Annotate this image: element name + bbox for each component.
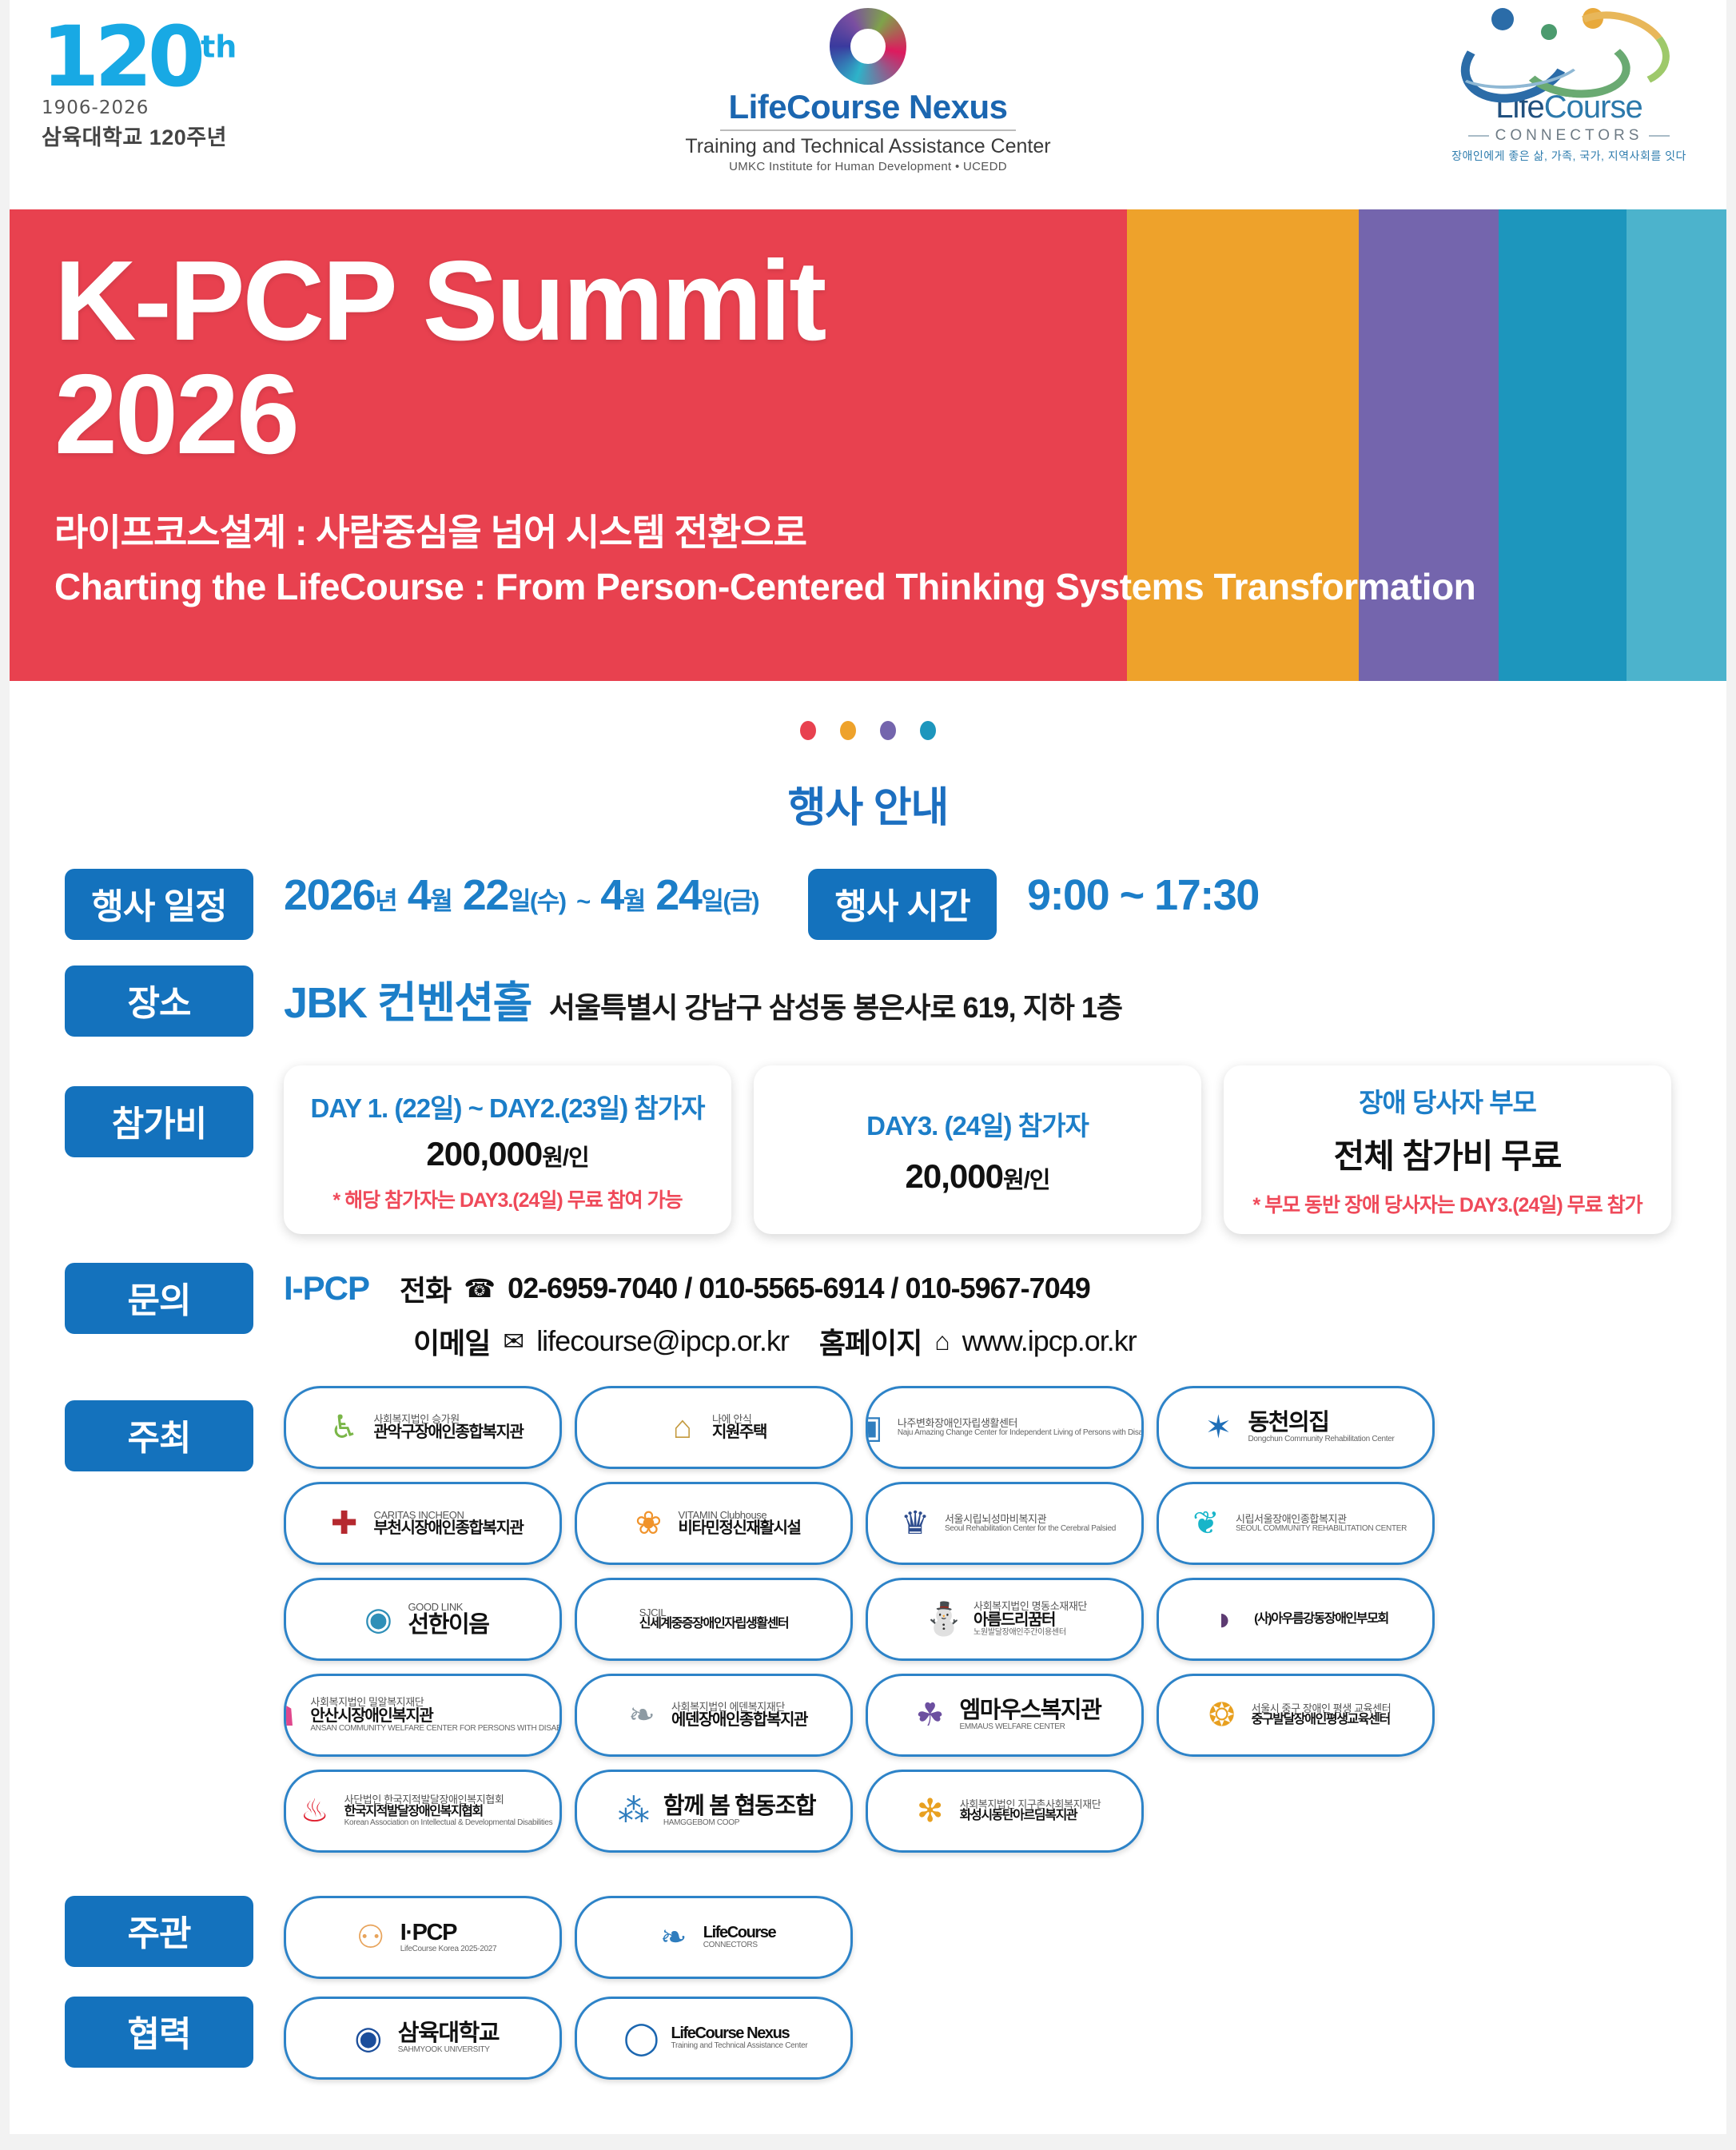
partner-logo-icon: ◉	[356, 1598, 400, 1641]
partner-logo: ◗(사)아우름강동장애인부모회	[1157, 1578, 1435, 1661]
partner-logo: ☘엠마우스복지관EMMAUS WELFARE CENTER	[866, 1674, 1144, 1757]
partner-logo-subtext: LifeCourse Korea 2025-2027	[400, 1945, 497, 1954]
partner-logo-name: LifeCourse	[703, 1925, 775, 1941]
partner-logo-name: 아름드리꿈터	[974, 1612, 1087, 1629]
info-body: 행사 안내 행사 일정 2026년 4월 22일(수) ~ 4월	[10, 681, 1726, 2134]
time-value-wrap: 9:00 ~ 17:30	[997, 869, 1259, 920]
partner-logo-name: 신세계중증장애인자립생활센터	[639, 1618, 788, 1631]
partner-logo-name: 선한이음	[408, 1613, 488, 1638]
partner-logo-icon: ❂	[1200, 1694, 1244, 1737]
partner-logo-supertext: 시립서울장애인종합복지관	[1236, 1514, 1407, 1525]
organizer-logo-grid: ⚇I·PCPLifeCourse Korea 2025-2027❧LifeCou…	[253, 1896, 853, 1979]
footer-bar	[0, 2134, 1736, 2150]
partner-logo-icon: ♨	[293, 1790, 336, 1833]
partner-logo-supertext: 나주변화장애인자립생활센터	[898, 1418, 1144, 1429]
venue-value-wrap: JBK 컨벤션홀 서울특별시 강남구 삼성동 봉은사로 619, 지하 1층	[253, 966, 1671, 1030]
partner-logo-icon: ☗	[284, 1694, 302, 1737]
partner-logo-name: 관악구장애인종합복지관	[374, 1424, 524, 1441]
partner-logo-name: 삼육대학교	[398, 2021, 499, 2046]
fee-card-amount: 200,000원/인	[298, 1135, 717, 1173]
page-edge-right	[1726, 0, 1736, 2150]
banner-stripe-teal	[1499, 209, 1627, 681]
partner-logo: ❧LifeCourseCONNECTORS	[575, 1896, 853, 1979]
partner-logo: ⌂나에 안식지원주택	[575, 1386, 853, 1469]
partner-logo: ⁂함께 봄 협동조합HAMGGEBOM COOP	[575, 1770, 853, 1853]
partner-logo: ⛄사회복지법인 명동소재재단아름드리꿈터노원발달장애인주간이용센터	[866, 1578, 1144, 1661]
email-label: 이메일	[413, 1320, 490, 1362]
lifecourse-connectors-logo: LifeCourse CONNECTORS 장애인에게 좋은 삶, 가족, 국가…	[1445, 3, 1693, 164]
divider	[720, 129, 1016, 131]
partner-logo: ◯LifeCourse NexusTraining and Technical …	[575, 1997, 853, 2080]
partner-logo: ♿사회복지법인 승가원관악구장애인종합복지관	[284, 1386, 562, 1469]
section-title: 행사 안내	[10, 774, 1726, 834]
partner-logo-supertext: 사회복지법인 밀알복지재단	[310, 1697, 562, 1708]
anniversary-mark: 120th	[42, 19, 273, 96]
partner-logo: ◉GOOD LINK선한이음	[284, 1578, 562, 1661]
fee-cards-wrap: DAY 1. (22일) ~ DAY2.(23일) 참가자 200,000원/인…	[253, 1064, 1671, 1234]
partner-logo-name: I·PCP	[400, 1921, 497, 1945]
venue-line: JBK 컨벤션홀 서울특별시 강남구 삼성동 봉은사로 619, 지하 1층	[284, 967, 1671, 1030]
partner-logo-icon: ✚	[323, 1502, 366, 1545]
phone-icon: ☎	[464, 1276, 495, 1301]
partner-logo-icon: ♿	[323, 1406, 366, 1449]
contact-details: I-PCP 전화 ☎ 02-6959-7040 / 010-5565-6914 …	[253, 1263, 1137, 1362]
partner-logo-icon: ⁂	[612, 1790, 655, 1833]
partner-logo-subtext: CONNECTORS	[703, 1941, 775, 1950]
partner-logo: ◉삼육대학교SAHMYOOK UNIVERSITY	[284, 1997, 562, 2080]
partner-logo: ☗사회복지법인 밀알복지재단안산시장애인복지관ANSAN COMMUNITY W…	[284, 1674, 562, 1757]
venue-name: JBK 컨벤션홀	[284, 967, 532, 1030]
phone-label: 전화	[400, 1268, 451, 1309]
lifecourse-nexus-logo: LifeCourse Nexus Training and Technical …	[660, 8, 1076, 173]
partner-logo-supertext: 서울시립뇌성마비복지관	[945, 1514, 1116, 1525]
dot-teal	[920, 721, 936, 740]
anniversary-number: 120	[42, 8, 201, 106]
partner-logo-supertext: GOOD LINK	[408, 1602, 488, 1613]
envelope-icon: ✉	[503, 1328, 524, 1354]
partner-logo-icon: ◗	[1203, 1598, 1246, 1641]
partner-logo-name: 중구발달장애인평생교육센터	[1252, 1714, 1392, 1727]
poster-subtitle-english: Charting the LifeCourse : From Person-Ce…	[54, 564, 1475, 609]
partner-logo: ✻사회복지법인 지구촌사회복지재단화성시동탄아르딤복지관	[866, 1770, 1144, 1853]
schedule-value: 2026년 4월 22일(수) ~ 4월 24일(금)	[284, 870, 759, 920]
banner-stripe-light-teal	[1627, 209, 1736, 681]
swirl-icon	[830, 8, 906, 85]
row-contact: 문의 I-PCP 전화 ☎ 02-6959-7040 / 010-5565-69…	[65, 1263, 1671, 1362]
fee-card-amount: 전체 참가비 무료	[1238, 1129, 1657, 1178]
fee-card: DAY 1. (22일) ~ DAY2.(23일) 참가자 200,000원/인…	[284, 1065, 731, 1234]
nexus-subtitle: Training and Technical Assistance Center	[660, 135, 1076, 158]
contact-org: I-PCP	[284, 1269, 369, 1308]
partner-logo: ❀VITAMIN Clubhouse비타민정신재활시설	[575, 1482, 853, 1565]
partner-logo-name: 함께 봄 협동조합	[663, 1794, 815, 1819]
label-venue: 장소	[65, 966, 253, 1037]
host-logo-grid: ♿사회복지법인 승가원관악구장애인종합복지관⌂나에 안식지원주택▣나주변화장애인…	[253, 1386, 1671, 1853]
partner-logo: ▣나주변화장애인자립생활센터Naju Amazing Change Center…	[866, 1386, 1144, 1469]
sahmyook-120th-anniversary-logo: 120th 1906-2026 삼육대학교 120주년	[42, 19, 273, 151]
partner-logo-icon: ▣	[866, 1406, 890, 1449]
banner-content: K-PCP Summit 2026 라이프코스설계 : 사람중심을 넘어 시스템…	[54, 245, 1475, 609]
partner-logo-icon: ◯	[620, 2017, 663, 2060]
fee-cards: DAY 1. (22일) ~ DAY2.(23일) 참가자 200,000원/인…	[284, 1065, 1671, 1234]
anniversary-th: th	[201, 29, 237, 64]
partner-logo-name: 엠마우스복지관	[960, 1698, 1101, 1723]
email-address[interactable]: lifecourse@ipcp.or.kr	[536, 1324, 789, 1358]
partner-logo: ❧사회복지법인 에덴복지재단에덴장애인종합복지관	[575, 1674, 853, 1757]
time-value: 9:00 ~ 17:30	[1027, 870, 1259, 920]
partner-logo-subtext: EMMAUS WELFARE CENTER	[960, 1723, 1101, 1732]
phone-numbers: 02-6959-7040 / 010-5565-6914 / 010-5967-…	[508, 1272, 1090, 1305]
partner-logo-subtext: Seoul Rehabilitation Center for the Cere…	[945, 1525, 1116, 1534]
poster-title-line1: K-PCP Summit	[54, 237, 824, 364]
partner-logo-icon: ♛	[894, 1502, 937, 1545]
page-edge-left	[0, 0, 10, 2150]
dot-red	[800, 721, 816, 740]
event-info-table: 행사 일정 2026년 4월 22일(수) ~ 4월 24일(금)	[65, 869, 1671, 2080]
time-group: 행사 시간 9:00 ~ 17:30	[808, 869, 1259, 940]
row-hosts: 주최 ♿사회복지법인 승가원관악구장애인종합복지관⌂나에 안식지원주택▣나주변화…	[65, 1386, 1671, 1853]
label-cooperation: 협력	[65, 1997, 253, 2068]
partner-logo-name: 동천의집	[1248, 1411, 1394, 1435]
dot-orange	[840, 721, 856, 740]
partner-logo-icon: ✻	[909, 1790, 952, 1833]
partner-logo: SJCIL신세계중증장애인자립생활센터	[575, 1578, 853, 1661]
poster-subtitle-korean: 라이프코스설계 : 사람중심을 넘어 시스템 전환으로	[54, 504, 1475, 556]
nexus-subtitle-2: UMKC Institute for Human Development • U…	[660, 160, 1076, 173]
homepage-url[interactable]: www.ipcp.or.kr	[962, 1324, 1137, 1358]
fee-card: 장애 당사자 부모 전체 참가비 무료 * 부모 동반 장애 당사자는 DAY3…	[1224, 1065, 1671, 1234]
partner-logo-name: 에덴장애인종합복지관	[671, 1712, 807, 1729]
partner-logo-subtext: HAMGGEBOM COOP	[663, 1819, 815, 1828]
partner-logo-name: 화성시동탄아르딤복지관	[960, 1810, 1101, 1823]
partner-logo-icon: ☘	[909, 1694, 952, 1737]
partner-logo: ♨사단법인 한국지적발달장애인복지협회한국지적발달장애인복지협회Korean A…	[284, 1770, 562, 1853]
connectors-subtitle: CONNECTORS	[1445, 127, 1693, 145]
partner-logo-icon: ◉	[347, 2017, 390, 2060]
label-fee: 참가비	[65, 1086, 253, 1157]
nexus-title: LifeCourse Nexus	[660, 88, 1076, 126]
partner-logo-supertext: 사회복지법인 명동소재재단	[974, 1601, 1087, 1612]
partner-logo: ✚CARITAS INCHEON부천시장애인종합복지관	[284, 1482, 562, 1565]
contact-email-line: 이메일 ✉ lifecourse@ipcp.or.kr 홈페이지 ⌂ www.i…	[284, 1320, 1137, 1362]
partner-logo-name: 비타민정신재활시설	[679, 1520, 801, 1537]
title-banner: K-PCP Summit 2026 라이프코스설계 : 사람중심을 넘어 시스템…	[0, 209, 1736, 681]
header-logo-bar: 120th 1906-2026 삼육대학교 120주년 LifeCourse N…	[0, 0, 1736, 209]
row-venue: 장소 JBK 컨벤션홀 서울특별시 강남구 삼성동 봉은사로 619, 지하 1…	[65, 966, 1671, 1037]
partner-logo-name: 부천시장애인종합복지관	[374, 1520, 524, 1537]
partner-logo-name: 안산시장애인복지관	[310, 1708, 562, 1725]
partner-logo: ⚇I·PCPLifeCourse Korea 2025-2027	[284, 1896, 562, 1979]
fee-card-note: * 해당 참가자는 DAY3.(24일) 무료 참여 가능	[298, 1184, 717, 1213]
partner-logo: ❦시립서울장애인종합복지관SEOUL COMMUNITY REHABILITAT…	[1157, 1482, 1435, 1565]
poster-root: 120th 1906-2026 삼육대학교 120주년 LifeCourse N…	[0, 0, 1736, 2150]
partner-logo: ♛서울시립뇌성마비복지관Seoul Rehabilitation Center …	[866, 1482, 1144, 1565]
partner-logo-icon: ❧	[620, 1694, 663, 1737]
partner-logo-name: (사)아우름강동장애인부모회	[1254, 1613, 1388, 1626]
fee-card: DAY3. (24일) 참가자 20,000원/인	[754, 1065, 1201, 1234]
cooperation-logo-grid: ◉삼육대학교SAHMYOOK UNIVERSITY◯LifeCourse Nex…	[253, 1997, 853, 2080]
home-icon: ⌂	[934, 1328, 949, 1354]
anniversary-caption: 삼육대학교 120주년	[42, 120, 273, 151]
contact-phone-line: I-PCP 전화 ☎ 02-6959-7040 / 010-5565-6914 …	[284, 1268, 1137, 1309]
partner-logo-subtext: 노원발달장애인주간이용센터	[974, 1629, 1087, 1638]
partner-logo: ❂서울시 중구 장애인 평생 교육센터중구발달장애인평생교육센터	[1157, 1674, 1435, 1757]
label-organizers: 주관	[65, 1896, 253, 1967]
partner-logo-subtext: SAHMYOOK UNIVERSITY	[398, 2046, 499, 2055]
partner-logo-subtext: Korean Association on Intellectual & Dev…	[344, 1819, 553, 1828]
fee-card-title: 장애 당사자 부모	[1238, 1081, 1657, 1120]
dot-purple	[880, 721, 896, 740]
partner-logo-icon: ❧	[652, 1916, 695, 1959]
label-hosts: 주최	[65, 1400, 253, 1471]
partner-logo-icon: ❀	[627, 1502, 671, 1545]
homepage-label: 홈페이지	[819, 1320, 922, 1362]
decorative-dots	[10, 681, 1726, 740]
partner-logo-subtext: Training and Technical Assistance Center	[671, 2042, 808, 2051]
poster-title: K-PCP Summit 2026	[54, 245, 1475, 472]
partner-logo-subtext: Dongchun Community Rehabilitation Center	[1248, 1435, 1394, 1444]
partner-logo-icon: ❦	[1185, 1502, 1228, 1545]
schedule-value-wrap: 2026년 4월 22일(수) ~ 4월 24일(금)	[253, 869, 759, 920]
fee-card-amount: 20,000원/인	[768, 1157, 1187, 1196]
partner-logo-subtext: Naju Amazing Change Center for Independe…	[898, 1429, 1144, 1438]
schedule-group: 행사 일정 2026년 4월 22일(수) ~ 4월 24일(금)	[65, 869, 759, 940]
partner-logo-subtext: SEOUL COMMUNITY REHABILITATION CENTER	[1236, 1525, 1407, 1534]
partner-logo-name: 한국지적발달장애인복지협회	[344, 1806, 553, 1819]
partner-logo: ✶동천의집Dongchun Community Rehabilitation C…	[1157, 1386, 1435, 1469]
partner-logo-subtext: ANSAN COMMUNITY WELFARE CENTER FOR PERSO…	[310, 1725, 562, 1734]
connectors-korean-tagline: 장애인에게 좋은 삶, 가족, 국가, 지역사회를 잇다	[1445, 148, 1693, 164]
bottom-partner-rows: 주관 ⚇I·PCPLifeCourse Korea 2025-2027❧Life…	[65, 1896, 1671, 2080]
partner-logo-icon: ⌂	[661, 1406, 704, 1449]
label-time: 행사 시간	[808, 869, 997, 940]
partner-logo-name: LifeCourse Nexus	[671, 2025, 808, 2042]
partner-logo-icon: ⚇	[349, 1916, 392, 1959]
fee-card-title: DAY 1. (22일) ~ DAY2.(23일) 참가자	[298, 1087, 717, 1125]
partner-logo-icon: ✶	[1196, 1406, 1240, 1449]
partner-logo-name: 지원주택	[712, 1424, 766, 1441]
row-schedule-time: 행사 일정 2026년 4월 22일(수) ~ 4월 24일(금)	[65, 869, 1671, 940]
partner-logo-icon: ⛄	[922, 1598, 966, 1641]
row-organizers: 주관 ⚇I·PCPLifeCourse Korea 2025-2027❧Life…	[65, 1896, 1671, 1979]
venue-address: 서울특별시 강남구 삼성동 봉은사로 619, 지하 1층	[549, 985, 1122, 1026]
poster-title-line2: 2026	[54, 351, 297, 478]
label-schedule: 행사 일정	[65, 869, 253, 940]
label-contact: 문의	[65, 1263, 253, 1334]
row-cooperation: 협력 ◉삼육대학교SAHMYOOK UNIVERSITY◯LifeCourse …	[65, 1997, 1671, 2080]
fee-card-title: DAY3. (24일) 참가자	[768, 1105, 1187, 1143]
people-wave-icon	[1445, 3, 1693, 90]
row-fee: 참가비 DAY 1. (22일) ~ DAY2.(23일) 참가자 200,00…	[65, 1064, 1671, 1234]
fee-card-note: * 부모 동반 장애 당사자는 DAY3.(24일) 무료 참가	[1238, 1189, 1657, 1218]
